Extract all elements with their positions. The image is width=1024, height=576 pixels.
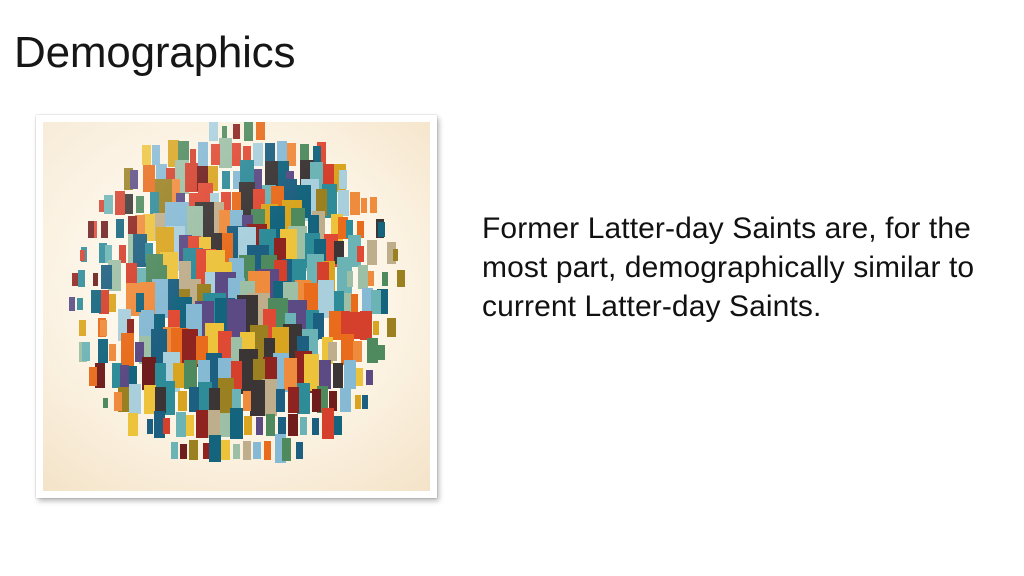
person-icon (142, 145, 150, 165)
person-icon (256, 122, 264, 140)
person-icon (244, 416, 252, 435)
person-icon (243, 441, 251, 460)
person-icon (387, 318, 395, 337)
person-icon (136, 196, 143, 214)
person-icon (397, 270, 404, 288)
person-icon (296, 442, 303, 459)
person-icon (243, 391, 251, 410)
person-icon (351, 294, 358, 312)
person-icon (184, 360, 196, 389)
person-icon (334, 291, 343, 313)
person-icon (322, 408, 335, 439)
person-icon (329, 311, 341, 340)
person-icon (276, 389, 286, 412)
person-icon (155, 387, 166, 413)
person-icon (115, 191, 125, 215)
person-icon (91, 290, 101, 313)
body-paragraph: Former Latter-day Saints are, for the mo… (482, 209, 994, 326)
person-icon (121, 333, 135, 366)
person-icon (189, 440, 197, 460)
person-icon (150, 192, 160, 215)
person-icon (288, 387, 299, 413)
person-icon (130, 170, 138, 189)
person-icon (312, 418, 319, 435)
slide-canvas: Demographics Former Latter-day Saints ar… (0, 0, 1024, 576)
person-icon (361, 198, 367, 213)
person-icon (185, 163, 197, 192)
person-icon (109, 294, 117, 312)
person-icon (219, 138, 232, 168)
person-icon (362, 395, 368, 410)
person-icon (209, 435, 221, 463)
person-icon (80, 250, 85, 261)
person-icon (356, 368, 363, 386)
person-icon (378, 345, 385, 361)
person-icon (358, 265, 368, 289)
person-icon (357, 246, 364, 262)
person-icon (222, 126, 227, 138)
demographics-illustration-frame[interactable] (36, 115, 437, 498)
person-icon (129, 384, 141, 413)
person-icon (312, 389, 322, 412)
person-icon (319, 360, 331, 388)
person-icon (82, 342, 90, 361)
person-icon (233, 124, 239, 139)
person-icon (125, 194, 134, 215)
person-icon (253, 143, 263, 166)
person-icon (186, 415, 194, 435)
person-icon (196, 410, 208, 438)
person-icon (353, 341, 362, 361)
person-icon (104, 195, 112, 214)
person-icon (244, 122, 253, 141)
person-icon (116, 219, 124, 238)
person-icon (69, 297, 75, 310)
page-title: Demographics (14, 27, 295, 79)
person-icon (393, 249, 398, 261)
person-icon (278, 417, 286, 435)
person-icon (253, 442, 260, 459)
person-icon (266, 414, 275, 436)
person-icon (89, 367, 97, 386)
person-icon (339, 170, 347, 190)
person-icon (288, 414, 298, 437)
person-icon (98, 339, 108, 362)
person-icon (366, 370, 372, 385)
person-icon (350, 192, 360, 216)
person-icon (382, 272, 388, 287)
person-icon (300, 417, 307, 435)
person-icon (103, 398, 107, 408)
person-icon (340, 388, 350, 412)
person-icon (77, 298, 82, 311)
person-icon (371, 290, 381, 314)
person-icon (143, 165, 154, 192)
person-icon (79, 320, 86, 336)
person-icon (221, 440, 230, 461)
person-icon (233, 444, 239, 459)
person-icon (178, 391, 186, 411)
person-icon (128, 413, 138, 436)
person-icon (368, 271, 374, 286)
person-icon (282, 438, 291, 460)
person-icon (250, 380, 265, 416)
person-icon (230, 408, 243, 438)
person-icon (338, 190, 349, 215)
person-icon (163, 418, 170, 434)
person-icon (344, 360, 356, 389)
person-icon (284, 358, 298, 390)
person-icon (88, 221, 95, 237)
person-icon (256, 417, 263, 435)
person-icon (72, 273, 78, 286)
person-icon (347, 271, 354, 287)
person-icon (370, 197, 377, 213)
person-icon (78, 270, 85, 287)
person-icon (378, 222, 385, 238)
person-icon (189, 387, 200, 412)
person-icon (254, 169, 262, 189)
crowd-of-people-graphic (43, 122, 430, 491)
person-icon (222, 171, 230, 189)
person-icon (328, 342, 336, 361)
person-icon (109, 344, 116, 360)
person-icon (171, 442, 178, 460)
person-icon (373, 321, 379, 335)
person-icon (203, 443, 210, 459)
person-icon (211, 144, 220, 165)
person-icon (367, 338, 378, 364)
person-icon (147, 419, 154, 435)
person-icon (334, 416, 342, 435)
person-icon (355, 395, 361, 409)
person-icon (198, 142, 208, 166)
person-icon (114, 392, 122, 411)
person-icon (101, 265, 111, 289)
person-icon (367, 240, 377, 265)
person-icon (101, 221, 108, 238)
person-icon (264, 441, 272, 459)
person-icon (220, 413, 230, 437)
person-icon (180, 444, 186, 459)
person-icon (93, 273, 99, 286)
person-icon (100, 320, 106, 335)
person-icon (99, 200, 104, 212)
person-icon (333, 363, 343, 388)
person-icon (190, 149, 196, 164)
person-icon (152, 145, 161, 165)
person-icon (209, 122, 218, 141)
demographics-illustration (43, 122, 430, 491)
